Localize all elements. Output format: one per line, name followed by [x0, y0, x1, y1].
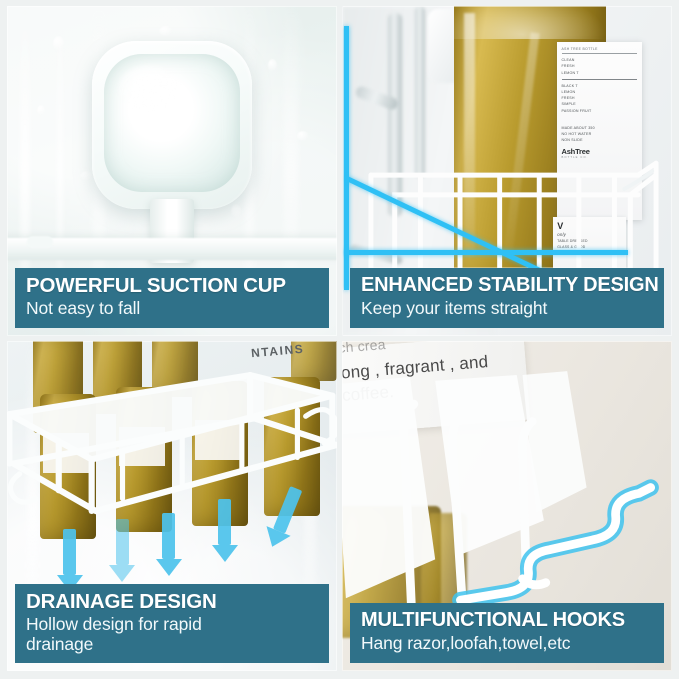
arrow-shaft [218, 499, 231, 545]
water-droplet [80, 171, 93, 180]
caption-subtitle: Not easy to fall [26, 299, 318, 319]
caption-title: ENHANCED STABILITY DESIGN [361, 275, 653, 297]
caption-title: DRAINAGE DESIGN [26, 591, 318, 613]
arrow-shaft [116, 519, 129, 565]
label-line: NON SLIDE [562, 137, 638, 143]
label-line: LEMON T [562, 70, 638, 76]
label-spacer [562, 117, 638, 122]
water-droplet [297, 131, 309, 141]
caption-subtitle: Hollow design for rapid drainage [26, 615, 236, 655]
feature-collage: POWERFUL SUCTION CUP Not easy to fall AS… [0, 0, 679, 679]
caption-subtitle: Hang razor,loofah,towel,etc [361, 634, 653, 654]
caption-title: MULTIFUNCTIONAL HOOKS [361, 610, 653, 632]
water-droplet [53, 36, 64, 51]
angle-guide-horizontal [344, 250, 628, 255]
shelf-bracket [27, 236, 53, 248]
suction-cup-highlight [118, 65, 182, 113]
panel-caption: ENHANCED STABILITY DESIGN Keep your item… [350, 268, 664, 328]
arrow-shaft [162, 513, 175, 559]
arrow-head [156, 559, 182, 576]
arrow-head [109, 565, 135, 582]
feature-panel-powerful-suction-cup: POWERFUL SUCTION CUP Not easy to fall [7, 6, 337, 336]
panel-caption: POWERFUL SUCTION CUP Not easy to fall [15, 268, 329, 328]
suction-cup [92, 41, 252, 209]
water-droplet [37, 105, 45, 116]
feature-panel-enhanced-stability-design: ASH TREE BOTTLE CLEAN FRESH LEMON T BLAC… [342, 6, 672, 336]
feature-panel-multifunctional-hooks: ich crea rong , fragrant , and coffee. [342, 341, 672, 671]
shelf-edge [7, 238, 337, 260]
arrow-head [212, 545, 238, 562]
water-droplet [159, 26, 173, 36]
feature-panel-drainage-design: NTAINS [7, 341, 337, 671]
arrow-down-icon [109, 519, 135, 582]
arrow-down-icon [212, 499, 238, 562]
bottle-shoulder-gloss [454, 6, 606, 39]
label-divider [562, 79, 638, 80]
arrow-down-icon [57, 529, 83, 592]
caption-title: POWERFUL SUCTION CUP [26, 275, 318, 297]
water-droplet [268, 59, 277, 72]
label-line: PASSION FRUIT [562, 108, 638, 114]
caption-subtitle: Keep your items straight [361, 299, 653, 319]
label-header: ASH TREE BOTTLE [562, 47, 638, 54]
panel-caption: DRAINAGE DESIGN Hollow design for rapid … [15, 584, 329, 663]
arrow-shaft [63, 529, 76, 575]
arrow-down-icon [156, 513, 182, 576]
panel-caption: MULTIFUNCTIONAL HOOKS Hang razor,loofah,… [350, 603, 664, 663]
